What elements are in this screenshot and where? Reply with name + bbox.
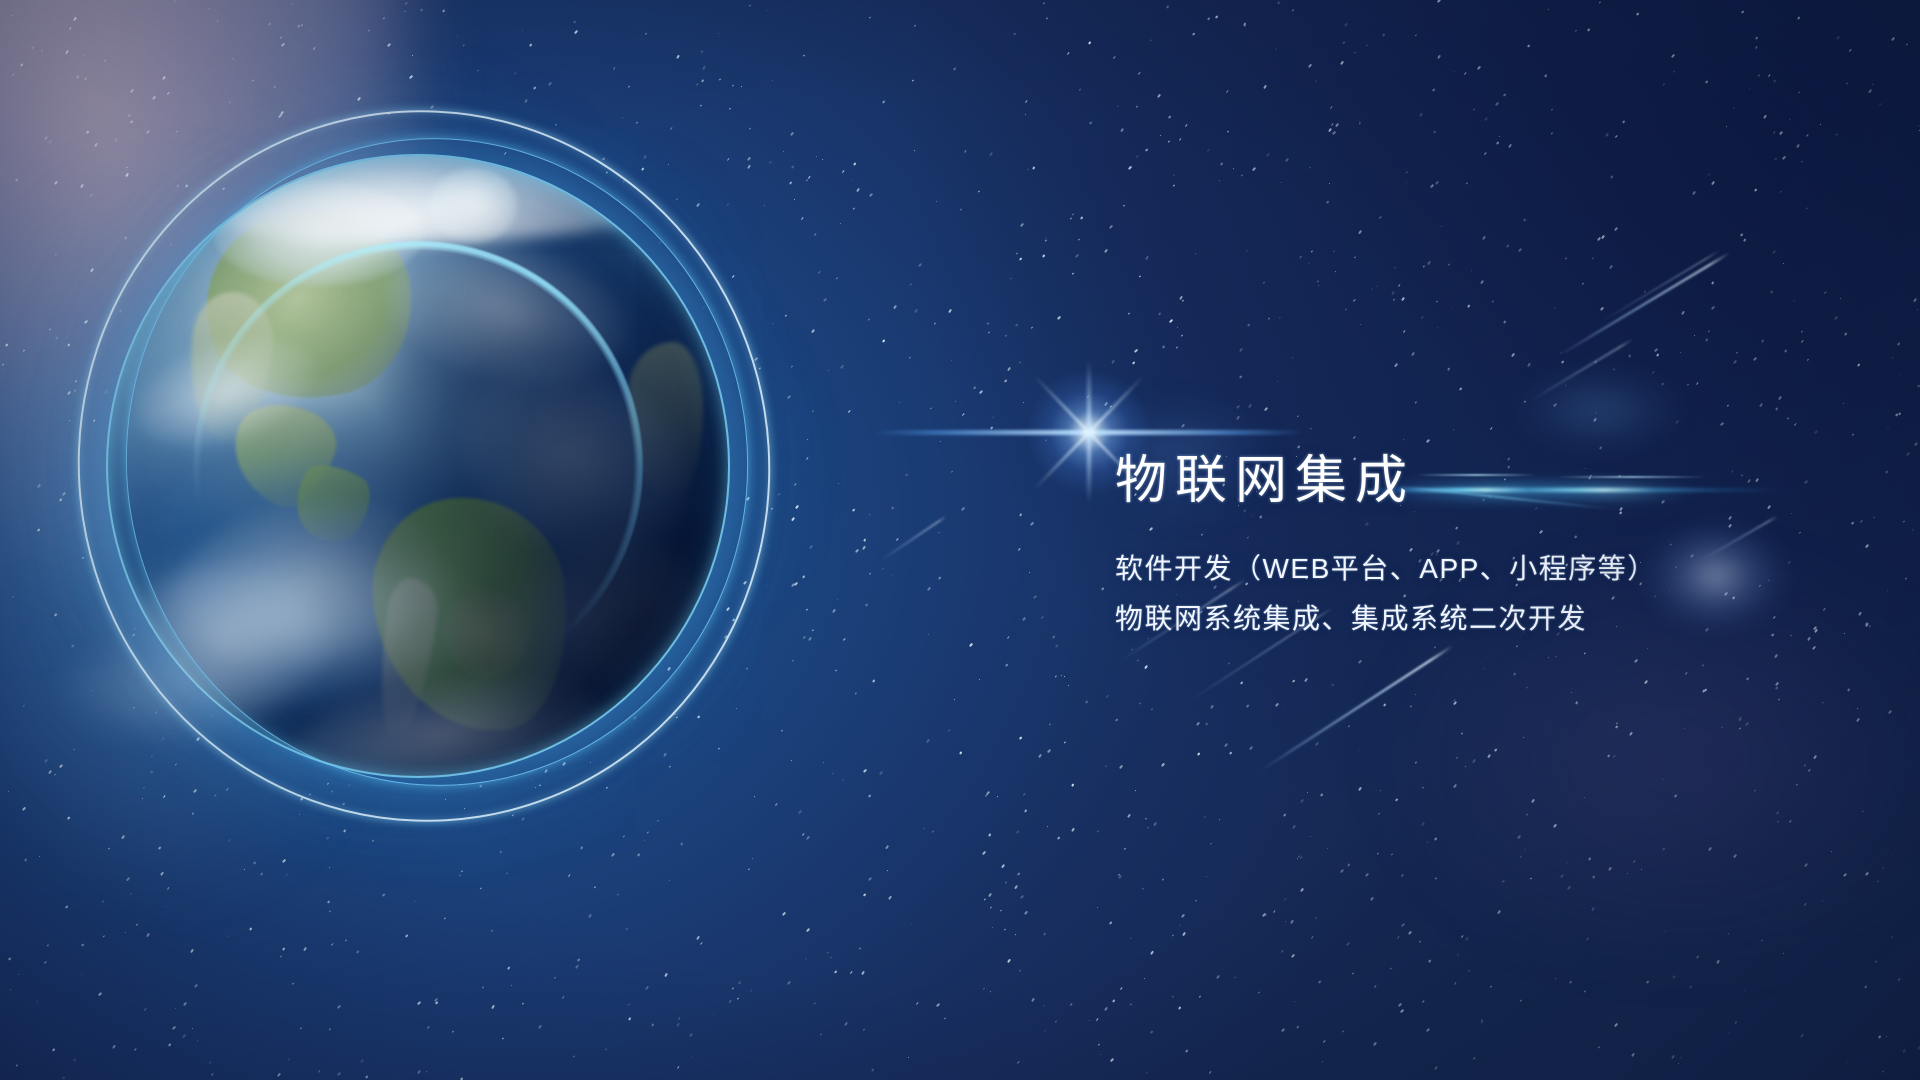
banner-stage: 物联网集成 软件开发（WEB平台、APP、小程序等） 物联网系统集成、集成系统二… (0, 0, 1920, 1080)
vignette-overlay (0, 0, 1920, 1080)
